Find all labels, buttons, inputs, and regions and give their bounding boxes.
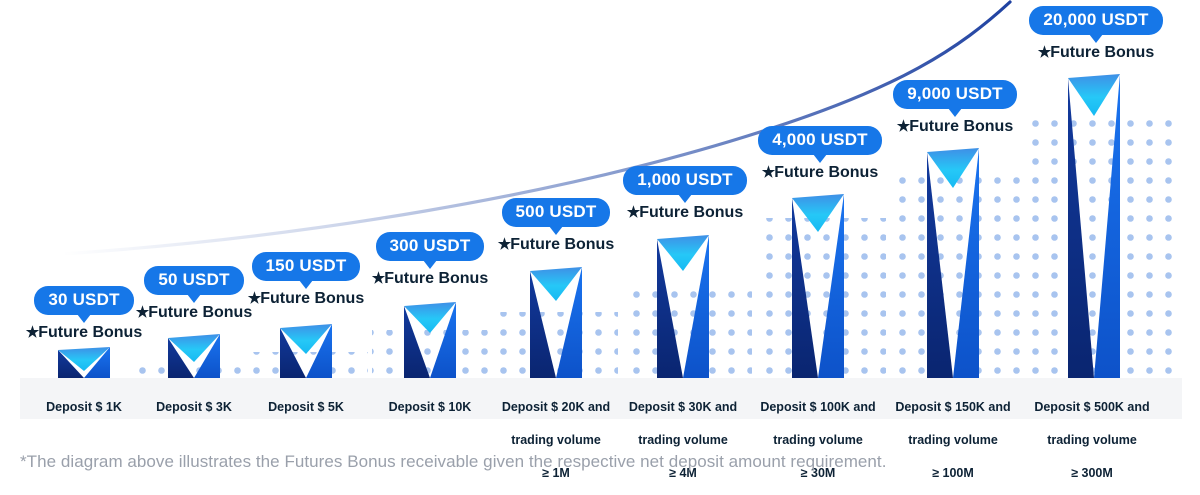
deposit-line: Deposit $ 10K [370, 399, 490, 416]
star-icon: ★ [498, 236, 510, 253]
future-bonus-label: ★Future Bonus [871, 118, 1039, 136]
bonus-amount-text: 500 USDT [516, 202, 597, 221]
axis-label-tier-6: Deposit $ 30K and trading volume ≥ 4M [619, 382, 747, 495]
star-icon: ★ [372, 270, 384, 287]
bar-tier-7 [792, 192, 844, 378]
star-icon: ★ [136, 304, 148, 321]
star-icon: ★ [1038, 44, 1050, 61]
deposit-line: trading volume [887, 432, 1019, 449]
deposit-line: Deposit $ 5K [246, 399, 366, 416]
star-icon: ★ [627, 204, 639, 221]
callout-tier-9: 20,000 USDT ★Future Bonus [1008, 6, 1184, 61]
deposit-line: ≥ 100M [887, 465, 1019, 482]
deposit-line: Deposit $ 30K and [619, 399, 747, 416]
future-bonus-label: ★Future Bonus [226, 290, 386, 308]
deposit-line: trading volume [619, 432, 747, 449]
bar-tier-5 [530, 265, 582, 378]
axis-label-tier-9: Deposit $ 500K and trading volume ≥ 300M [1022, 382, 1162, 495]
bonus-amount-badge[interactable]: 1,000 USDT [623, 166, 747, 195]
deposit-line: trading volume [752, 432, 884, 449]
bar-tier-3 [280, 322, 332, 378]
deposit-line: Deposit $ 100K and [752, 399, 884, 416]
future-bonus-label: ★Future Bonus [4, 324, 164, 342]
bonus-amount-text: 4,000 USDT [772, 130, 868, 149]
bonus-amount-text: 9,000 USDT [907, 84, 1003, 103]
footnote-text: *The diagram above illustrates the Futur… [20, 452, 886, 472]
bar-tier-8 [927, 146, 979, 378]
bonus-amount-badge[interactable]: 300 USDT [376, 232, 485, 261]
bar-tier-4 [404, 300, 456, 378]
bar-tier-9 [1068, 72, 1120, 378]
deposit-line: trading volume [492, 432, 620, 449]
axis-label-tier-5: Deposit $ 20K and trading volume ≥ 1M [492, 382, 620, 495]
deposit-line: ≥ 300M [1022, 465, 1162, 482]
future-bonus-label: ★Future Bonus [1008, 44, 1184, 62]
bonus-amount-badge[interactable]: 9,000 USDT [893, 80, 1017, 109]
bonus-amount-text: 30 USDT [48, 290, 119, 309]
bonus-amount-badge[interactable]: 20,000 USDT [1029, 6, 1162, 35]
bar-tier-1 [58, 345, 110, 378]
bonus-amount-text: 20,000 USDT [1043, 10, 1148, 29]
bonus-amount-text: 1,000 USDT [637, 170, 733, 189]
star-icon: ★ [248, 290, 260, 307]
futures-bonus-diagram: 30 USDT ★Future Bonus 50 USDT ★Future Bo… [0, 0, 1200, 495]
callout-tier-8: 9,000 USDT ★Future Bonus [871, 80, 1039, 135]
bonus-amount-text: 50 USDT [158, 270, 229, 289]
bonus-amount-text: 300 USDT [390, 236, 471, 255]
bar-tier-2 [168, 332, 220, 378]
star-icon: ★ [762, 164, 774, 181]
axis-label-tier-2: Deposit $ 3K [134, 382, 254, 432]
deposit-line: Deposit $ 20K and [492, 399, 620, 416]
axis-label-tier-7: Deposit $ 100K and trading volume ≥ 30M [752, 382, 884, 495]
deposit-line: Deposit $ 500K and [1022, 399, 1162, 416]
future-bonus-label: ★Future Bonus [350, 270, 510, 288]
bonus-amount-badge[interactable]: 150 USDT [252, 252, 361, 281]
axis-label-tier-3: Deposit $ 5K [246, 382, 366, 432]
axis-label-tier-4: Deposit $ 10K [370, 382, 490, 432]
star-icon: ★ [897, 118, 909, 135]
bonus-amount-text: 150 USDT [266, 256, 347, 275]
deposit-line: Deposit $ 3K [134, 399, 254, 416]
deposit-line: trading volume [1022, 432, 1162, 449]
axis-label-tier-1: Deposit $ 1K [24, 382, 144, 432]
future-bonus-label: ★Future Bonus [736, 164, 904, 182]
star-icon: ★ [26, 324, 38, 341]
bonus-amount-badge[interactable]: 4,000 USDT [758, 126, 882, 155]
deposit-line: Deposit $ 150K and [887, 399, 1019, 416]
axis-label-tier-8: Deposit $ 150K and trading volume ≥ 100M [887, 382, 1019, 495]
bar-tier-6 [657, 233, 709, 378]
deposit-line: Deposit $ 1K [24, 399, 144, 416]
bonus-amount-badge[interactable]: 500 USDT [502, 198, 611, 227]
future-bonus-label: ★Future Bonus [476, 236, 636, 254]
future-bonus-label: ★Future Bonus [601, 204, 769, 222]
